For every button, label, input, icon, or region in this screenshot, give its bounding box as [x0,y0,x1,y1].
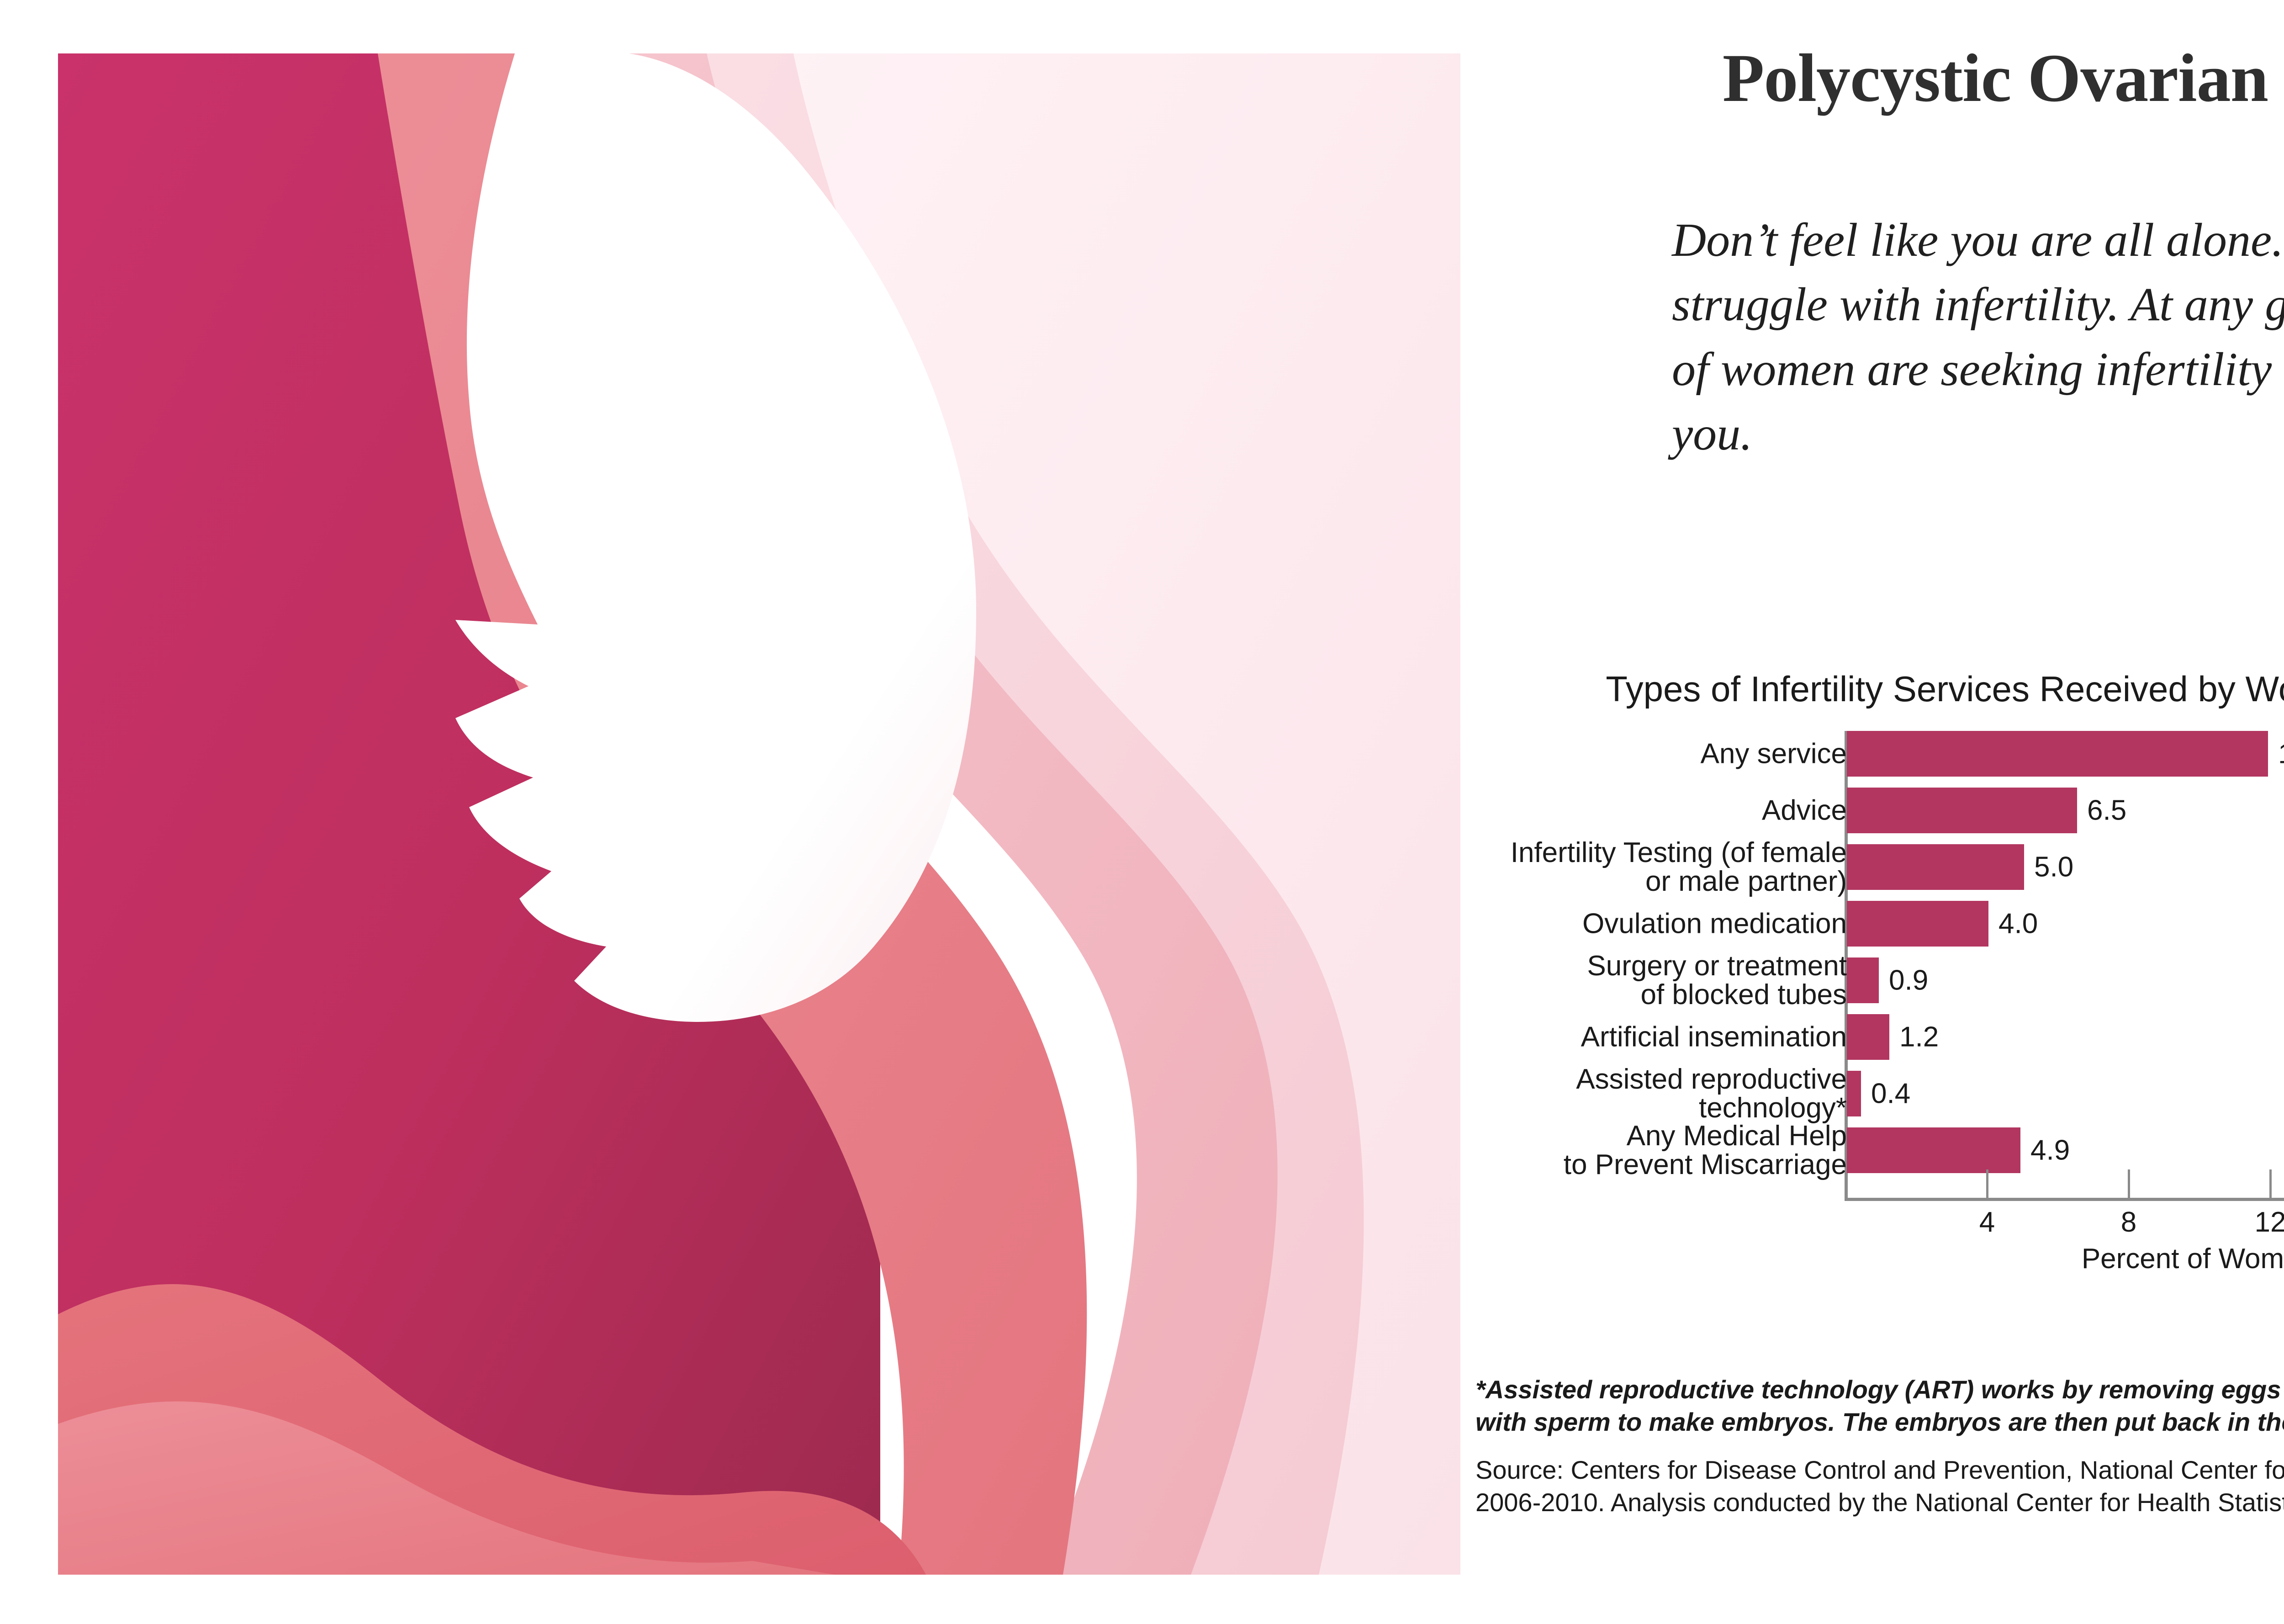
chart-source: Source: Centers for Disease Control and … [1475,1454,2284,1518]
bar-value-label: 0.9 [1879,964,1928,997]
chart-footnote: *Assisted reproductive technology (ART) … [1475,1374,2284,1438]
table-row: Ovulation medication 4.0 [1462,901,2284,947]
bar-value-label: 11.9 [2268,738,2284,770]
bar-category-label: Assisted reproductive technology* [1491,1065,1847,1122]
bar-value-label: 6.5 [2077,794,2126,827]
bar[interactable] [1847,901,1988,947]
content-panel: Polycystic Ovarian Syndrome Don’t feel l… [1462,0,2284,1624]
bar-category-label: Advice [1491,796,1847,825]
bar-value-label: 4.0 [1988,908,2038,940]
table-row: Surgery or treatment of blocked tubes 0.… [1462,957,2284,1003]
woman-profile-illustration [58,53,1460,1575]
table-row: Any Medical Help to Prevent Miscarriage … [1462,1127,2284,1173]
bar-category-label: Any service [1491,739,1847,768]
table-row: Assisted reproductive technology* 0.4 [1462,1071,2284,1116]
intro-quote: Don’t feel like you are all alone. Other… [1672,208,2284,466]
infertility-services-bar-chart: Any service 11.9 Advice 6.5 Infertility … [1462,731,2284,1233]
x-tick-mark [1986,1169,1988,1198]
table-row: Advice 6.5 [1462,788,2284,833]
bar-value-label: 5.0 [2024,851,2073,883]
x-tick-mark [2128,1169,2130,1198]
bar[interactable] [1847,788,2077,833]
chart-title: Types of Infertility Services Received b… [1462,668,2284,710]
bar[interactable] [1847,957,1879,1003]
bar-value-label: 0.4 [1861,1078,1910,1110]
bar-category-label: Infertility Testing (of female or male p… [1491,838,1847,896]
bar-value-label: 4.9 [2020,1134,2070,1167]
bar-value-label: 1.2 [1889,1021,1939,1053]
x-axis-line [1845,1198,2284,1201]
bar-category-label: Ovulation medication [1491,909,1847,938]
bar[interactable] [1847,844,2024,890]
table-row: Any service 11.9 [1462,731,2284,777]
bar[interactable] [1847,1071,1861,1116]
x-tick-label: 12 [2255,1206,2284,1238]
x-tick-mark [2269,1169,2272,1198]
bar[interactable] [1847,1127,2020,1173]
bar-category-label: Any Medical Help to Prevent Miscarriage [1491,1121,1847,1179]
x-tick-label: 8 [2121,1206,2136,1238]
chart-bars-container: Any service 11.9 Advice 6.5 Infertility … [1462,731,2284,1184]
table-row: Artificial insemination 1.2 [1462,1014,2284,1060]
x-tick-label: 4 [1979,1206,1995,1238]
table-row: Infertility Testing (of female or male p… [1462,844,2284,890]
x-axis-title: Percent of Women [1845,1243,2284,1275]
bar[interactable] [1847,1014,1889,1060]
bar[interactable] [1847,731,2268,777]
bar-category-label: Artificial insemination [1491,1022,1847,1051]
page-title: Polycystic Ovarian Syndrome [1462,39,2284,117]
bar-category-label: Surgery or treatment of blocked tubes [1491,952,1847,1009]
